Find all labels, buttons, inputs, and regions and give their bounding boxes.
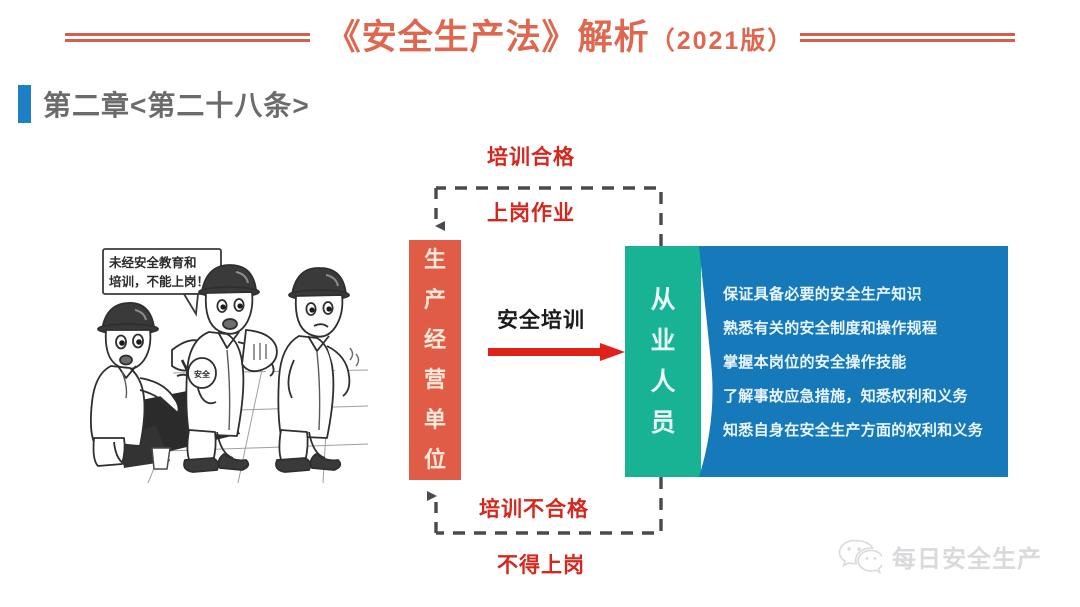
requirements-panel: 保证具备必要的安全生产知识 熟悉有关的安全制度和操作规程 掌握本岗位的安全操作技…	[683, 246, 1008, 477]
speech-bubble-line2: 培训，不能上岗！	[109, 274, 209, 289]
list-item: 掌握本岗位的安全操作技能	[723, 351, 1008, 372]
speech-bubble-line1: 未经安全教育和	[108, 255, 197, 270]
title-rule-right	[800, 33, 1015, 42]
chapter-label: 第二章<第二十八条>	[43, 84, 310, 124]
label-safety-training: 安全培训	[497, 304, 585, 334]
chapter-accent-bar	[18, 85, 31, 123]
list-item: 保证具备必要的安全生产知识	[723, 283, 1008, 304]
source-char: 位	[424, 440, 446, 480]
slide-title-row: 《安全生产法》解析（2021版）	[0, 8, 1080, 66]
wechat-icon	[838, 538, 882, 574]
source-char: 生	[424, 240, 446, 280]
source-char: 营	[424, 360, 446, 400]
armband-label: 安全	[194, 369, 211, 379]
target-char: 员	[650, 403, 675, 444]
page-title: 《安全生产法》解析（2021版）	[326, 20, 795, 55]
watermark: 每日安全生产	[838, 538, 1042, 574]
target-char: 业	[650, 321, 675, 362]
source-entity-box: 生 产 经 营 单 位	[409, 240, 461, 480]
list-item: 知悉自身在安全生产方面的权利和义务	[723, 419, 1008, 440]
chapter-heading: 第二章<第二十八条>	[18, 84, 310, 124]
label-no-post: 不得上岗	[497, 549, 585, 579]
list-item: 了解事故应急措施，知悉权利和义务	[723, 385, 1008, 406]
worker-cartoon-illustration: 未经安全教育和 培训，不能上岗！	[78, 238, 368, 483]
label-take-post: 上岗作业	[487, 197, 575, 227]
source-char: 产	[424, 280, 446, 320]
page-title-main: 《安全生产法》解析	[326, 18, 650, 57]
label-training-pass: 培训合格	[487, 141, 575, 171]
source-char: 经	[424, 320, 446, 360]
target-char: 从	[650, 280, 675, 321]
requirements-list: 保证具备必要的安全生产知识 熟悉有关的安全制度和操作规程 掌握本岗位的安全操作技…	[723, 246, 1008, 477]
watermark-text: 每日安全生产	[892, 539, 1042, 574]
title-rule-left	[65, 33, 310, 42]
label-training-fail: 培训不合格	[479, 493, 589, 523]
page-title-version: （2021版）	[650, 27, 795, 55]
slide-canvas: 《安全生产法》解析（2021版） 第二章<第二十八条>	[0, 0, 1080, 607]
target-char: 人	[650, 362, 675, 403]
source-char: 单	[424, 400, 446, 440]
safety-training-arrow	[488, 343, 625, 361]
list-item: 熟悉有关的安全制度和操作规程	[723, 317, 1008, 338]
